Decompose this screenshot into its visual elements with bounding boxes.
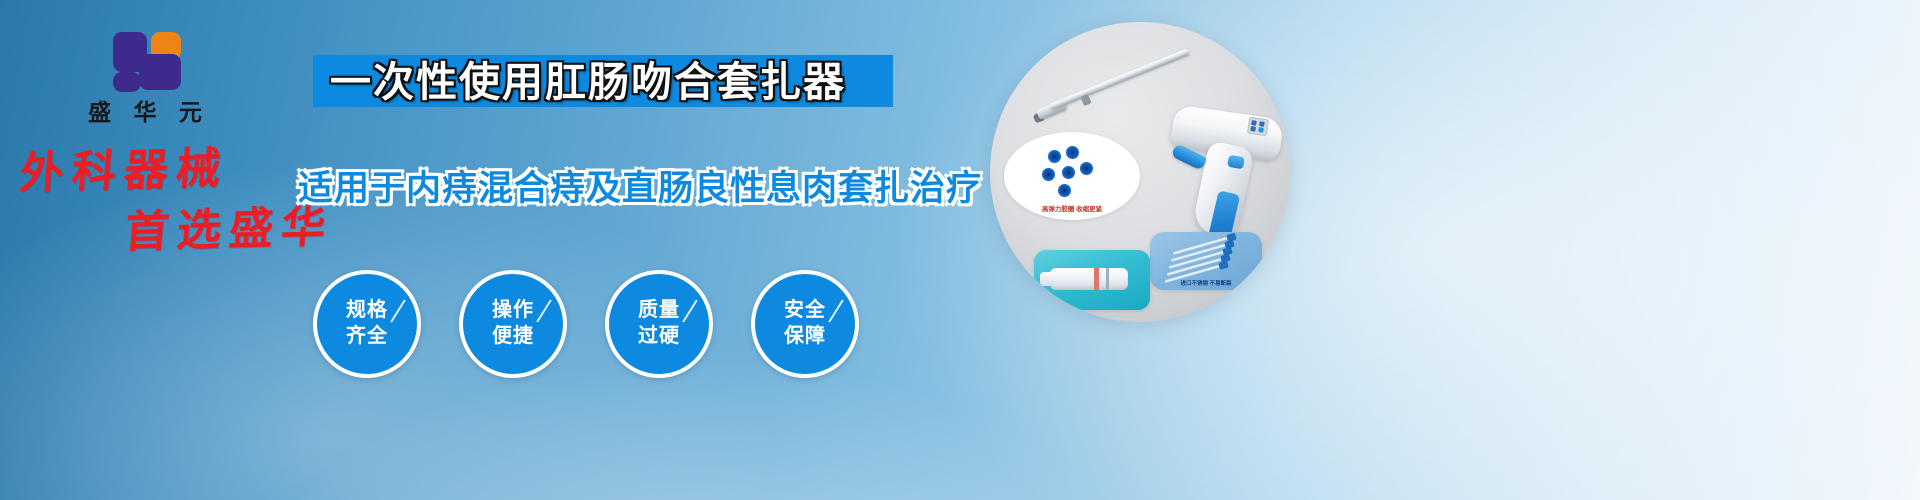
badge-safety-guarantee[interactable]: 安全 保障 <box>751 270 859 378</box>
badge-label-line2: 保障 <box>784 324 826 350</box>
badge-solid-quality[interactable]: 质量 过硬 <box>605 270 713 378</box>
elastic-band-icon <box>1058 184 1071 197</box>
product-photo: 高弹力胶圈 收缩更紧 进口不锈钢 不易断裂 <box>990 22 1290 322</box>
feature-badge-list: 规格 齐全 操作 便捷 质量 过硬 安全 保障 <box>313 270 859 378</box>
product-banner: 盛 华 元 外科器械 首选盛华 一次性使用肛肠吻合套扎器 适用于内痔混合痔及直肠… <box>0 0 1920 500</box>
gun-shaft-icon <box>1049 48 1191 111</box>
brand-logo[interactable]: 盛 华 元 <box>60 28 230 125</box>
badge-specifications-complete[interactable]: 规格 齐全 <box>313 270 421 378</box>
background-arc <box>250 360 1150 500</box>
inset-bands-caption: 高弹力胶圈 收缩更紧 <box>1004 203 1140 213</box>
gun-shaft-band-icon <box>1080 94 1091 106</box>
elastic-band-icon <box>1062 166 1075 179</box>
logo-square-purple-right <box>139 54 181 90</box>
inset-needles: 进口不锈钢 不易断裂 <box>1150 232 1262 290</box>
elastic-band-icon <box>1048 150 1061 163</box>
elastic-band-icon <box>1042 168 1055 181</box>
gun-keypad-icon <box>1247 117 1269 137</box>
logo-square-purple-bottom <box>113 72 141 92</box>
inset-elastic-bands: 高弹力胶圈 收缩更紧 <box>1004 132 1140 220</box>
badge-slash-icon <box>536 299 551 322</box>
badge-label-line1: 规格 <box>346 298 388 324</box>
badge-label-line1: 操作 <box>492 298 534 324</box>
page-title: 一次性使用肛肠吻合套扎器 <box>330 56 846 108</box>
brand-name: 盛 华 元 <box>60 100 230 125</box>
calligraphy-line-2: 首选盛华 <box>123 205 352 255</box>
badge-slash-icon <box>828 299 843 322</box>
elastic-band-icon <box>1066 146 1079 159</box>
inset-ligation-head <box>1034 250 1150 310</box>
badge-label-line1: 安全 <box>784 298 826 324</box>
badge-label-line1: 质量 <box>638 298 680 324</box>
subtitle: 适用于内痔混合痔及直肠良性息肉套扎治疗 <box>298 160 982 211</box>
badge-slash-icon <box>682 299 697 322</box>
badge-slash-icon <box>390 299 405 322</box>
badge-label-line2: 便捷 <box>492 324 534 350</box>
badge-easy-operation[interactable]: 操作 便捷 <box>459 270 567 378</box>
gun-side-button-icon <box>1227 155 1245 170</box>
shenghuayuan-logo-mark-icon <box>99 28 191 96</box>
elastic-band-icon <box>1080 162 1093 175</box>
badge-label-line2: 过硬 <box>638 324 680 350</box>
ligation-head-tip-icon <box>1040 272 1054 286</box>
badge-label-line2: 齐全 <box>346 324 388 350</box>
product-photo-inner: 高弹力胶圈 收缩更紧 进口不锈钢 不易断裂 <box>990 22 1290 322</box>
ligation-head-body-icon <box>1050 268 1128 290</box>
inset-needles-caption: 进口不锈钢 不易断裂 <box>1150 279 1262 287</box>
